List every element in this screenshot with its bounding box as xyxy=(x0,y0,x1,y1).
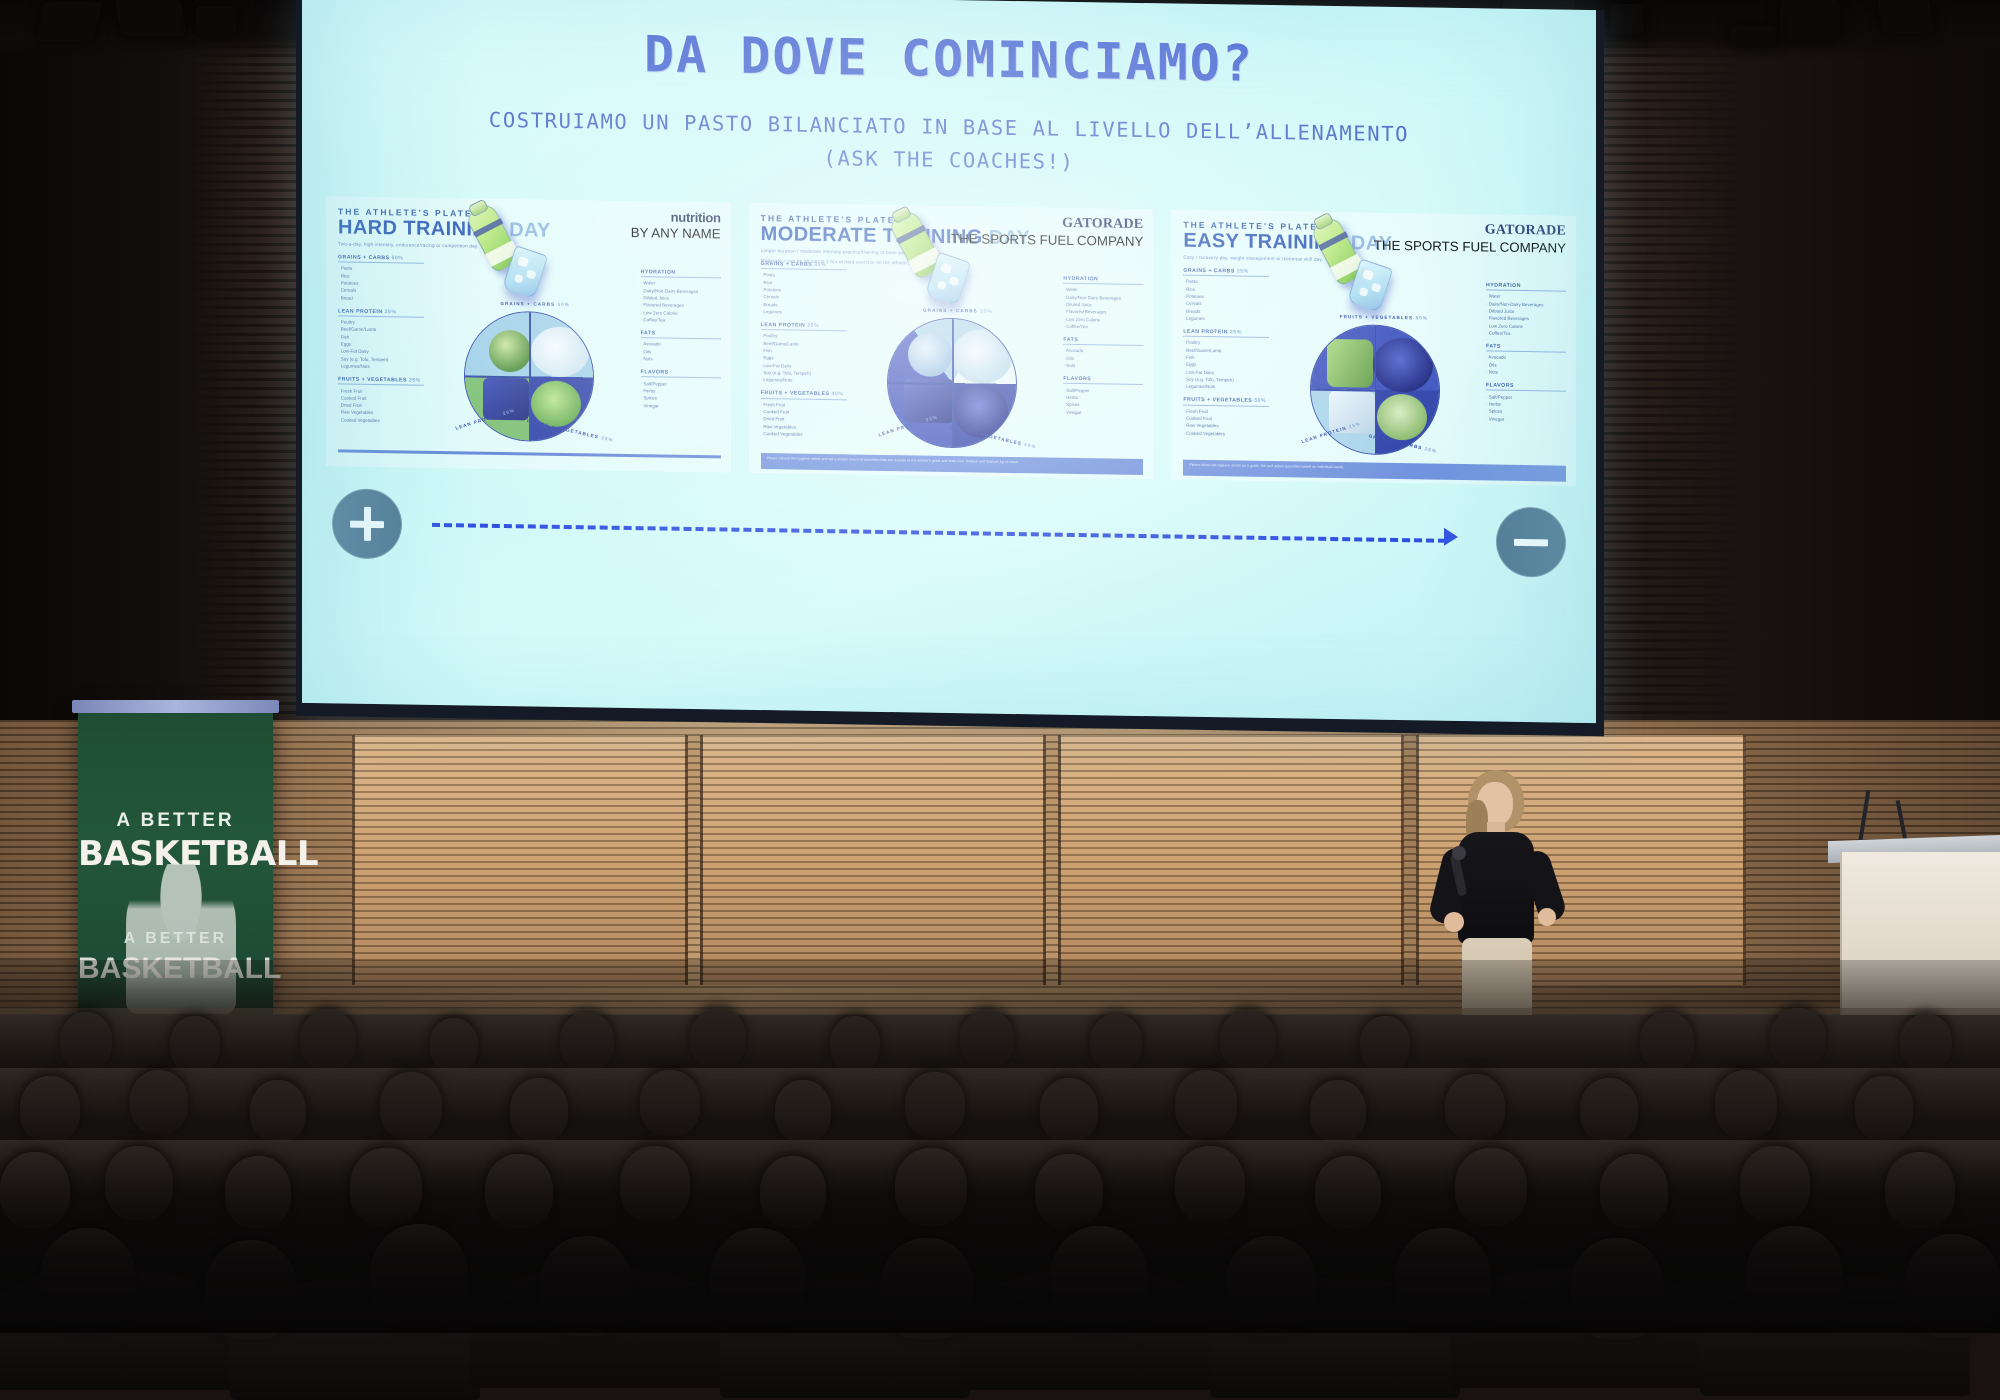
food-grains xyxy=(952,329,1012,384)
ice-cube xyxy=(517,256,529,268)
group-pct: 25% xyxy=(385,309,397,315)
group-heading-text: LEAN PROTEIN xyxy=(338,308,383,315)
audience-head xyxy=(1900,1014,1952,1070)
training-intensity-scale xyxy=(332,488,1566,577)
nutrient-group: FLAVORS Salt/Pepper Herbs Spices Vinegar xyxy=(1486,383,1566,424)
presenter-hand-left xyxy=(1444,912,1464,932)
audience-head xyxy=(830,1016,880,1072)
food-grains xyxy=(531,326,589,377)
group-heading: GRAINS + CARBS 50% xyxy=(338,254,424,264)
list-item: Vinegar xyxy=(1486,415,1566,424)
ice-cube xyxy=(936,280,946,290)
group-heading: FLAVORS xyxy=(1486,383,1566,392)
audience-head xyxy=(690,1008,746,1068)
list-item: Coffee/Tea xyxy=(641,316,721,325)
brand-gatorade-logo: GATORADE THE SPORTS FUEL COMPANY xyxy=(951,214,1143,251)
audience-head xyxy=(20,1076,80,1142)
dashed-arrow-line xyxy=(432,523,1446,543)
bottle-cap xyxy=(1313,212,1335,231)
banner-top-bar xyxy=(72,700,279,713)
wall-panel xyxy=(352,735,688,985)
group-items: Poultry Beef/Game/Lamb Fish Eggs Low-Fat… xyxy=(338,319,424,371)
audience-seating-area xyxy=(0,960,2000,1333)
ice-cube xyxy=(1359,287,1369,297)
nutrient-group: HYDRATION Water Dairy/Non-Dairy Beverage… xyxy=(1486,282,1566,337)
list-item: Cooked Vegetables xyxy=(338,416,424,425)
nutrient-group: GRAINS + CARBS 50% Pasta Rice Potatoes C… xyxy=(338,254,424,302)
arrow-head-icon xyxy=(1444,528,1458,546)
audience-head xyxy=(430,1018,478,1072)
group-items: Poultry Beef/Game/Lamb Fish Eggs Low-Fat… xyxy=(761,332,847,384)
brand-tagline: THE SPORTS FUEL COMPANY xyxy=(951,231,1143,249)
card-moderate-training-day: THE ATHLETE'S PLATE MODERATE TRAINING DA… xyxy=(749,203,1154,479)
slide-title: DA DOVE COMINCIAMO? xyxy=(302,20,1596,98)
card-description: Longer duration / moderate intensity pra… xyxy=(761,247,991,258)
group-heading: FATS xyxy=(641,330,721,339)
food-asparagus xyxy=(1327,339,1373,388)
card-description: Two-a-day, high intensity, endurance/rac… xyxy=(338,240,568,251)
audience-head xyxy=(300,1010,356,1070)
group-heading-text: FRUITS + VEGETABLES xyxy=(338,377,407,384)
list-item: Cooked Vegetables xyxy=(1183,429,1269,438)
stage-light xyxy=(1780,0,1840,40)
presenter-hand-right xyxy=(1538,908,1556,926)
auditorium-scene: DA DOVE COMINCIAMO? COSTRUIAMO UN PASTO … xyxy=(0,0,2000,1333)
brand-tagline: THE SPORTS FUEL COMPANY xyxy=(1374,238,1566,256)
group-heading-text: GRAINS + CARBS xyxy=(338,254,390,261)
stage-light xyxy=(1730,26,1776,46)
group-items: Pasta Rice Potatoes Cereals Bread xyxy=(338,265,424,303)
audience-head xyxy=(1360,1016,1410,1072)
food-broccoli xyxy=(489,330,531,373)
group-heading: GRAINS + CARBS 25% xyxy=(1183,268,1269,278)
card-body: GRAINS + CARBS 33% Pasta Rice Potatoes C… xyxy=(761,261,1144,457)
nutrient-groups-right: HYDRATION Water Dairy/Non-Dairy Beverage… xyxy=(1486,282,1566,430)
minus-horizontal-bar xyxy=(1514,538,1548,546)
card-body: GRAINS + CARBS 25% Pasta Rice Potatoes C… xyxy=(1183,268,1566,464)
group-items: Pasta Rice Potatoes Cereals Breads Legum… xyxy=(1183,278,1269,323)
audience-head xyxy=(960,1010,1014,1068)
ice-cube xyxy=(526,269,537,279)
nutrient-group: LEAN PROTEIN 25% Poultry Beef/Game/Lamb … xyxy=(1183,329,1269,392)
food-grains xyxy=(1377,394,1427,441)
nutrient-group: LEAN PROTEIN 25% Poultry Beef/Game/Lamb … xyxy=(338,308,424,371)
banner-kicker: A BETTER xyxy=(78,810,273,832)
audience-head xyxy=(775,1080,831,1142)
wall-panel xyxy=(700,735,1046,985)
nutrient-groups-left: GRAINS + CARBS 33% Pasta Rice Potatoes C… xyxy=(761,261,847,446)
nutrient-group: FRUITS + VEGETABLES 50% Fresh Fruit Cook… xyxy=(1183,397,1269,438)
list-item: Coffee/Tea xyxy=(1063,323,1143,332)
nutrient-group: GRAINS + CARBS 25% Pasta Rice Potatoes C… xyxy=(1183,268,1269,323)
card-easy-training-day: THE ATHLETE'S PLATE EASY TRAINING DAY Ea… xyxy=(1171,209,1576,485)
audience-head xyxy=(170,1016,220,1072)
list-item: Legumes xyxy=(1183,314,1269,323)
food-salad xyxy=(908,332,952,377)
group-items: Salt/Pepper Herbs Spices Vinegar xyxy=(641,380,721,410)
brand-name: GATORADE xyxy=(1374,221,1566,240)
audience-head xyxy=(1640,1012,1694,1070)
audience-head xyxy=(1040,1078,1098,1142)
group-heading: HYDRATION xyxy=(641,269,721,278)
group-heading: HYDRATION xyxy=(1486,282,1566,291)
list-item: Nuts xyxy=(641,355,721,364)
plate-ring-label-top: GRAINS + CARBS 50% xyxy=(500,301,570,307)
nutrient-group: GRAINS + CARBS 33% Pasta Rice Potatoes C… xyxy=(761,261,847,316)
group-items: Avocado Oils Nuts xyxy=(1063,347,1143,370)
nutrient-group: FATS Avocado Oils Nuts xyxy=(1486,343,1566,376)
stage-light xyxy=(1610,4,1644,34)
group-items: Avocado Oils Nuts xyxy=(1486,354,1566,377)
audience-head xyxy=(1310,1080,1366,1142)
audience-head xyxy=(1175,1070,1237,1138)
audience-head xyxy=(560,1012,614,1070)
group-heading: FRUITS + VEGETABLES 25% xyxy=(338,377,424,387)
nutrient-groups-right: HYDRATION Water Dairy/Non-Dairy Beverage… xyxy=(1063,276,1143,424)
group-heading: HYDRATION xyxy=(1063,276,1143,285)
presenter-top xyxy=(1458,832,1534,944)
ice-cube xyxy=(940,262,952,274)
ice-cube xyxy=(514,274,524,284)
stage-light xyxy=(115,0,187,36)
list-item: Cooked Vegetables xyxy=(761,430,847,439)
stage-light xyxy=(36,2,103,42)
audience-head xyxy=(1445,1074,1505,1140)
plate-ring-label-top: GRAINS + CARBS 33% xyxy=(923,308,993,314)
bottle-band xyxy=(896,225,926,244)
nutrient-group: FRUITS + VEGETABLES 25% Fresh Fruit Cook… xyxy=(338,377,424,425)
plus-vertical-bar xyxy=(364,507,371,541)
card-title-strong: MODERATE TRAINING xyxy=(761,223,983,248)
list-item: Legumes/Nuts xyxy=(338,362,424,371)
audience-head xyxy=(1580,1078,1638,1142)
group-heading: FLAVORS xyxy=(641,369,721,378)
card-body: GRAINS + CARBS 50% Pasta Rice Potatoes C… xyxy=(338,254,721,450)
group-items: Poultry Beef/Game/Lamb Fish Eggs Low-Fat… xyxy=(1183,339,1269,391)
list-item: Legumes xyxy=(761,308,847,317)
bottle-band xyxy=(1319,231,1349,250)
group-heading: LEAN PROTEIN 25% xyxy=(1183,329,1269,339)
nutrient-group: LEAN PROTEIN 25% Poultry Beef/Game/Lamb … xyxy=(761,322,847,385)
group-items: Fresh Fruit Cooked Fruit Dried Fruit Raw… xyxy=(761,401,847,439)
list-item: Bread xyxy=(338,294,424,303)
group-items: Water Dairy/Non-Dairy Beverages Diluted … xyxy=(1063,286,1143,331)
group-heading: FLAVORS xyxy=(1063,376,1143,385)
group-heading: FATS xyxy=(1486,343,1566,352)
group-heading: GRAINS + CARBS 33% xyxy=(761,261,847,271)
stage-light xyxy=(196,6,236,34)
audience-head xyxy=(510,1078,568,1142)
group-heading: FRUITS + VEGETABLES 40% xyxy=(761,390,847,400)
group-pct: 50% xyxy=(392,255,404,261)
group-items: Pasta Rice Potatoes Cereals Breads Legum… xyxy=(761,271,847,316)
wall-panel xyxy=(1058,735,1404,985)
audience-head xyxy=(380,1072,442,1140)
group-heading: LEAN PROTEIN 25% xyxy=(338,308,424,318)
nutrient-group: FRUITS + VEGETABLES 40% Fresh Fruit Cook… xyxy=(761,390,847,438)
audience-head xyxy=(1090,1014,1142,1070)
group-items: Salt/Pepper Herbs Spices Vinegar xyxy=(1063,386,1143,416)
athlete-plate-diagram: GRAINS + CARBS 50% xyxy=(456,304,602,456)
list-item: Legumes/Nuts xyxy=(761,376,847,385)
audience-head xyxy=(1715,1070,1777,1138)
group-heading: FRUITS + VEGETABLES 50% xyxy=(1183,397,1269,407)
nutrient-group: HYDRATION Water Dairy/Non-Dairy Beverage… xyxy=(1063,276,1143,331)
microphone-head xyxy=(1452,846,1466,860)
brand-name: GATORADE xyxy=(951,214,1143,233)
nutrient-group: HYDRATION Water Dairy/Non-Dairy Beverage… xyxy=(641,269,721,324)
brand-tagline: BY ANY NAME xyxy=(631,225,721,241)
nutrient-group: FATS Avocado Oils Nuts xyxy=(641,330,721,363)
brand-name: nutrition xyxy=(631,209,721,225)
nutrient-groups-left: GRAINS + CARBS 25% Pasta Rice Potatoes C… xyxy=(1183,268,1269,445)
audience-head xyxy=(905,1072,965,1138)
group-items: Salt/Pepper Herbs Spices Vinegar xyxy=(1486,393,1566,423)
group-items: Water Dairy/Non-Dairy Beverages Diluted … xyxy=(1486,293,1566,338)
list-item: Vinegar xyxy=(641,402,721,411)
audience-foreground-shadow xyxy=(0,1153,2000,1333)
nutrient-groups-left: GRAINS + CARBS 50% Pasta Rice Potatoes C… xyxy=(338,254,424,431)
athlete-plate-diagram: GRAINS + CARBS 33% xyxy=(879,311,1025,463)
brand-gatorade-logo: GATORADE THE SPORTS FUEL COMPANY xyxy=(1374,221,1566,258)
bottle-cap xyxy=(468,199,490,218)
audience-head xyxy=(1220,1010,1276,1070)
group-items: Fresh Fruit Cooked Fruit Raw Vegetables … xyxy=(1183,407,1269,437)
nutrient-group: FLAVORS Salt/Pepper Herbs Spices Vinegar xyxy=(641,369,721,410)
audience-head xyxy=(250,1080,306,1142)
card-footnote: Please consult the hygiene article and s… xyxy=(761,453,1144,475)
food-vegetables xyxy=(1373,338,1433,393)
nutrient-group: FATS Avocado Oils Nuts xyxy=(1063,337,1143,370)
group-heading: LEAN PROTEIN 25% xyxy=(761,322,847,332)
athlete-plate-cards: THE ATHLETE'S PLATE HARD TRAINING DAY Tw… xyxy=(326,196,1576,486)
athlete-plate-diagram: FRUITS + VEGETABLES 50% xyxy=(1302,318,1448,470)
audience-head xyxy=(1770,1008,1826,1068)
plus-icon xyxy=(332,488,402,559)
brand-nutrition-logo: nutrition BY ANY NAME xyxy=(631,209,721,243)
audience-head xyxy=(60,1012,112,1070)
ice-cube xyxy=(948,276,959,286)
presentation-slide: DA DOVE COMINCIAMO? COSTRUIAMO UN PASTO … xyxy=(302,0,1596,723)
audience-head xyxy=(130,1070,188,1134)
list-item: Nuts xyxy=(1486,368,1566,377)
audience-head xyxy=(1855,1076,1913,1140)
plate-ring-label-top: FRUITS + VEGETABLES 50% xyxy=(1340,314,1428,320)
list-item: Legumes/Nuts xyxy=(1183,383,1269,392)
nutrient-groups-right: HYDRATION Water Dairy/Non-Dairy Beverage… xyxy=(641,269,721,417)
ice-cube xyxy=(1362,269,1374,281)
list-item: Coffee/Tea xyxy=(1486,329,1566,338)
minus-icon xyxy=(1496,507,1566,578)
wall-shadow-right xyxy=(1540,0,2000,760)
ice-cube xyxy=(1371,282,1382,292)
card-description: Easy / recovery day, weight management o… xyxy=(1183,254,1413,265)
audience-head xyxy=(640,1070,700,1136)
nutrient-group: FLAVORS Salt/Pepper Herbs Spices Vinegar xyxy=(1063,376,1143,417)
list-item: Nuts xyxy=(1063,362,1143,371)
group-pct: 25% xyxy=(409,378,421,384)
group-items: Avocado Oils Nuts xyxy=(641,341,721,364)
group-items: Water Dairy/Non-Dairy Beverages Diluted … xyxy=(641,280,721,325)
stage-light xyxy=(1877,0,1934,34)
projector-screen: DA DOVE COMINCIAMO? COSTRUIAMO UN PASTO … xyxy=(302,0,1596,723)
card-footnote: Please follow the hygiene article as a g… xyxy=(1183,460,1566,482)
bottle-cap xyxy=(890,205,912,224)
group-heading: FATS xyxy=(1063,337,1143,346)
list-item: Vinegar xyxy=(1063,408,1143,417)
wall-shadow-left xyxy=(0,0,320,760)
banner-kicker-2: A BETTER xyxy=(78,930,273,948)
bottle-band xyxy=(473,218,503,237)
card-hard-training-day: THE ATHLETE'S PLATE HARD TRAINING DAY Tw… xyxy=(326,196,731,472)
group-items: Fresh Fruit Cooked Fruit Dried Fruit Raw… xyxy=(338,387,424,425)
